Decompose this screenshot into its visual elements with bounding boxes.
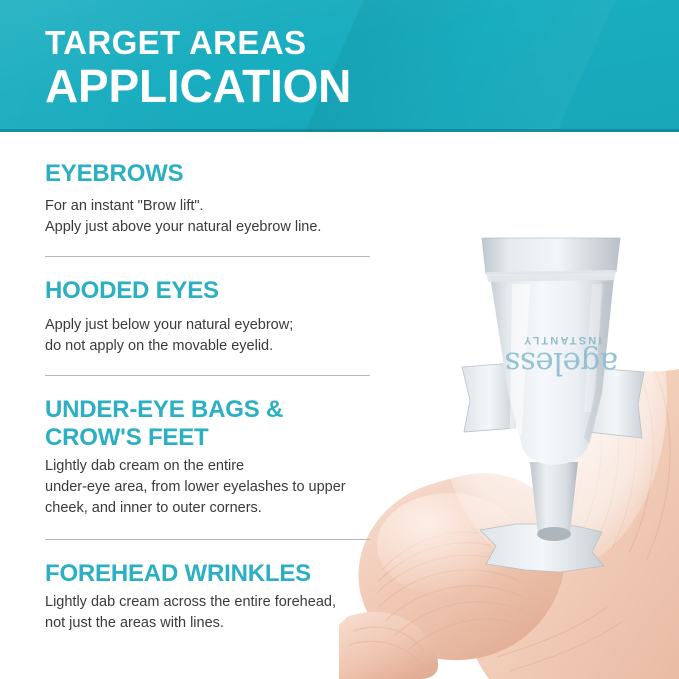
cream-texture-lines (349, 371, 670, 671)
tube-highlight-left (510, 284, 530, 439)
instructions-list: EYEBROWS For an instant "Brow lift". App… (45, 160, 385, 634)
page-title-line2: APPLICATION (45, 60, 351, 112)
tube-glow (437, 222, 667, 572)
section-forehead-wrinkles: FOREHEAD WRINKLES Lightly dab cream acro… (45, 560, 385, 634)
cream-highlight (377, 493, 521, 597)
section-eyebrows: EYEBROWS For an instant "Brow lift". App… (45, 160, 385, 238)
section-body: Lightly dab cream on the entire under-ey… (45, 456, 385, 519)
section-divider-1 (45, 256, 370, 257)
section-body: For an instant "Brow lift". Apply just a… (45, 196, 385, 238)
section-title: UNDER-EYE BAGS & CROW'S FEET (45, 396, 385, 452)
tube-shadow-right (584, 280, 614, 444)
header-title-group: TARGET AREAS APPLICATION (45, 24, 351, 112)
section-title: HOODED EYES (45, 277, 385, 305)
tube-top-seal (482, 238, 620, 274)
cream-swatch-illustration (339, 359, 679, 679)
tube-highlight-right (584, 284, 604, 412)
header-bottom-rule (0, 129, 679, 132)
tube-product-name: ageless (505, 346, 618, 380)
poster-page: TARGET AREAS APPLICATION (0, 0, 679, 679)
section-divider-3 (45, 539, 370, 540)
tube-nozzle-tip (537, 527, 571, 541)
tube-base-wing (480, 524, 604, 572)
tube-printed-label: ageless INSTANTLY (505, 333, 618, 380)
tube-brand-line: INSTANTLY (505, 333, 618, 346)
section-title: EYEBROWS (45, 160, 385, 188)
tube-wing-right (588, 368, 644, 438)
section-title: FOREHEAD WRINKLES (45, 560, 385, 588)
tube-seal-ridge (486, 270, 616, 282)
page-title-line1: TARGET AREAS (45, 24, 351, 62)
section-under-eye-bags-crows-feet: UNDER-EYE BAGS & CROW'S FEET Lightly dab… (45, 396, 385, 519)
cream-blob-center (359, 473, 566, 660)
section-divider-2 (45, 375, 370, 376)
section-body: Apply just below your natural eyebrow; d… (45, 315, 385, 357)
section-body: Lightly dab cream across the entire fore… (45, 592, 385, 634)
product-tube-illustration (452, 232, 667, 587)
tube-wing-left (462, 363, 516, 432)
section-hooded-eyes: HOODED EYES Apply just below your natura… (45, 277, 385, 357)
tube-neck (530, 462, 578, 534)
header-banner: TARGET AREAS APPLICATION (0, 0, 679, 132)
cream-blob-right (466, 366, 679, 679)
tube-body (490, 276, 614, 465)
